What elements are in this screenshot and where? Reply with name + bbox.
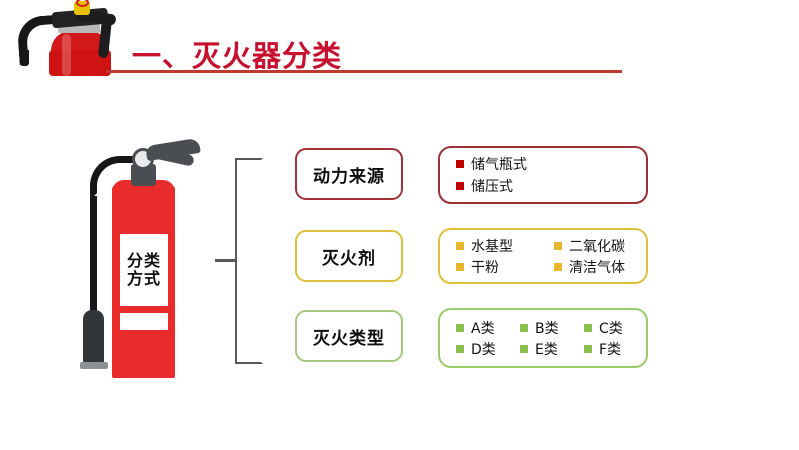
- category-box-extinguishing-agent[interactable]: 灭火剂: [295, 230, 403, 282]
- square-bullet-icon: [456, 345, 464, 353]
- list-item[interactable]: 水基型: [456, 236, 554, 256]
- item-label: A类: [471, 318, 495, 338]
- category-label: 动力来源: [313, 162, 385, 187]
- fire-extinguisher-photo-icon: [18, 0, 126, 74]
- list-item[interactable]: 储压式: [456, 176, 646, 196]
- item-label: B类: [535, 318, 559, 338]
- category-label: 灭火类型: [313, 324, 385, 349]
- square-bullet-icon: [456, 324, 464, 332]
- extinguisher-hose-drop: [90, 196, 97, 316]
- items-box-extinguishing-agent: 水基型 二氧化碳 干粉 清洁气体: [438, 228, 648, 284]
- item-grid: 储气瓶式 储压式: [456, 157, 646, 193]
- list-item[interactable]: A类: [456, 318, 520, 338]
- items-box-power-source: 储气瓶式 储压式: [438, 146, 648, 204]
- item-label: 储气瓶式: [471, 154, 527, 174]
- category-box-power-source[interactable]: 动力来源: [295, 148, 403, 200]
- list-item[interactable]: E类: [520, 339, 584, 359]
- item-label: F类: [599, 339, 621, 359]
- list-item[interactable]: C类: [584, 318, 646, 338]
- item-grid: A类 B类 C类 D类 E类: [456, 319, 646, 357]
- square-bullet-icon: [554, 242, 562, 250]
- category-label: 灭火剂: [322, 244, 376, 269]
- category-box-fire-class[interactable]: 灭火类型: [295, 310, 403, 362]
- title-underline-rule: [106, 70, 622, 73]
- list-item[interactable]: B类: [520, 318, 584, 338]
- item-label: 水基型: [471, 236, 513, 256]
- item-label: 清洁气体: [569, 257, 625, 277]
- item-grid: 水基型 二氧化碳 干粉 清洁气体: [456, 239, 646, 273]
- photo-gloss: [62, 34, 71, 76]
- item-label: 二氧化碳: [569, 236, 625, 256]
- extinguisher-illustration: 分类 方式: [70, 140, 200, 380]
- bracket-connector: [235, 158, 263, 364]
- list-item[interactable]: 清洁气体: [554, 257, 646, 277]
- square-bullet-icon: [520, 345, 528, 353]
- center-label-line-2: 方式: [127, 270, 161, 288]
- square-bullet-icon: [456, 263, 464, 271]
- square-bullet-icon: [456, 242, 464, 250]
- extinguisher-white-stripe: [120, 313, 168, 330]
- list-item[interactable]: F类: [584, 339, 646, 359]
- photo-hose-tail: [20, 50, 29, 66]
- slide-canvas: 一、灭火器分类 分类 方式 动力来源 储气瓶式: [0, 0, 799, 450]
- page-title: 一、灭火器分类: [132, 33, 342, 75]
- item-label: D类: [471, 339, 496, 359]
- square-bullet-icon: [456, 160, 464, 168]
- item-label: C类: [599, 318, 623, 338]
- item-label: 干粉: [471, 257, 499, 277]
- square-bullet-icon: [584, 324, 592, 332]
- list-item[interactable]: 干粉: [456, 257, 554, 277]
- items-box-fire-class: A类 B类 C类 D类 E类: [438, 308, 648, 368]
- item-label: 储压式: [471, 176, 513, 196]
- square-bullet-icon: [520, 324, 528, 332]
- list-item[interactable]: 二氧化碳: [554, 236, 646, 256]
- extinguisher-center-label: 分类 方式: [120, 234, 168, 306]
- list-item[interactable]: 储气瓶式: [456, 154, 646, 174]
- item-label: E类: [535, 339, 558, 359]
- square-bullet-icon: [554, 263, 562, 271]
- bracket-stem: [215, 259, 237, 262]
- extinguisher-nozzle-icon: [83, 310, 104, 364]
- square-bullet-icon: [456, 182, 464, 190]
- list-item[interactable]: D类: [456, 339, 520, 359]
- square-bullet-icon: [584, 345, 592, 353]
- center-label-line-1: 分类: [127, 252, 161, 270]
- extinguisher-nozzle-base: [80, 362, 108, 369]
